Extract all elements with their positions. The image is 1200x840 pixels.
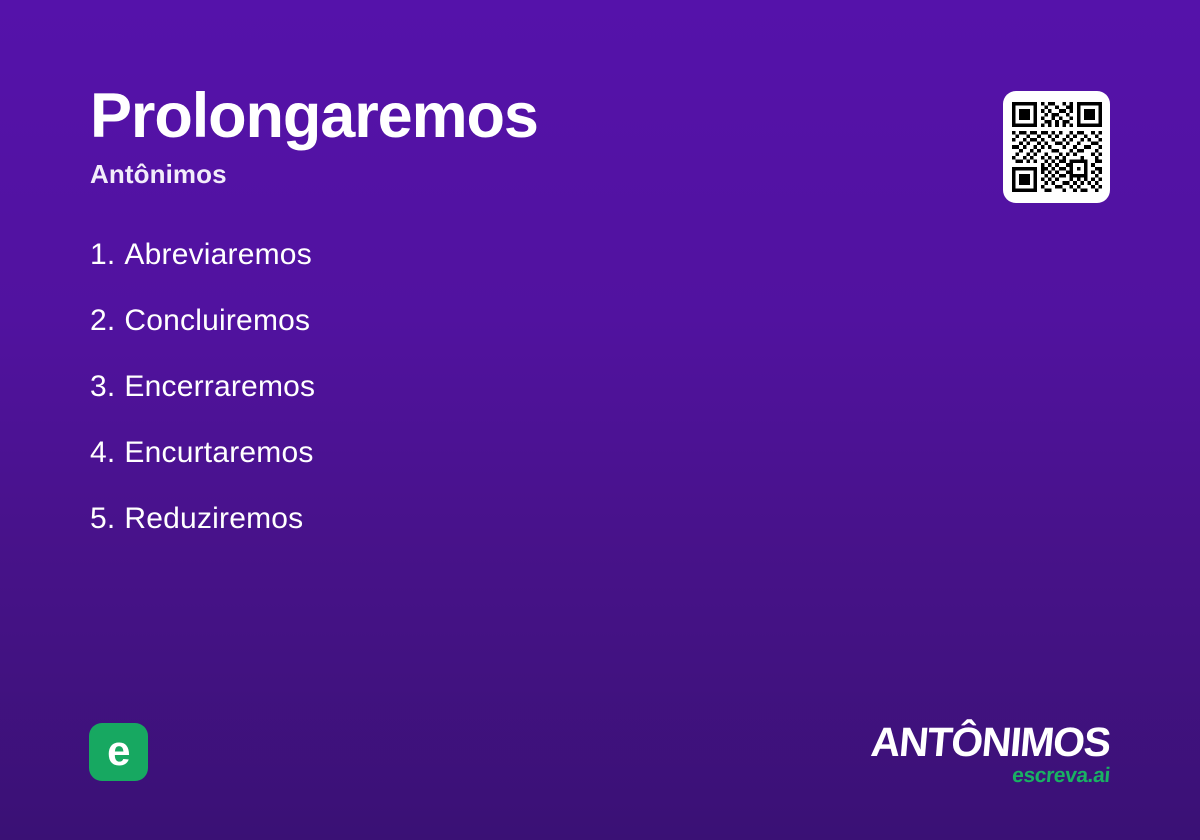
antonyms-card: Prolongaremos Antônimos 1.Abreviaremos 2… xyxy=(0,0,1200,840)
antonyms-list: 1.Abreviaremos 2.Concluiremos 3.Encerrar… xyxy=(90,238,790,568)
list-item-word: Encerraremos xyxy=(124,370,315,403)
list-item-index: 2. xyxy=(90,304,115,337)
list-item-word: Encurtaremos xyxy=(124,436,313,469)
list-item-word: Concluiremos xyxy=(124,304,310,337)
list-item-index: 3. xyxy=(90,370,115,403)
list-item: 3.Encerraremos xyxy=(90,370,790,436)
list-item-word: Reduziremos xyxy=(124,502,303,535)
e-badge-letter: e xyxy=(107,730,130,772)
headline-block: Prolongaremos Antônimos xyxy=(90,84,970,190)
page-subtitle: Antônimos xyxy=(90,159,970,190)
qr-code-panel[interactable] xyxy=(1003,91,1110,203)
list-item: 2.Concluiremos xyxy=(90,304,790,370)
list-item-word: Abreviaremos xyxy=(124,238,311,271)
qr-code-icon xyxy=(1012,102,1102,192)
escreva-e-logo-icon[interactable]: e xyxy=(89,723,148,781)
list-item: 1.Abreviaremos xyxy=(90,238,790,304)
page-title: Prolongaremos xyxy=(90,84,970,148)
list-item-index: 1. xyxy=(90,238,115,271)
list-item-index: 5. xyxy=(90,502,115,535)
list-item-index: 4. xyxy=(90,436,115,469)
list-item: 5.Reduziremos xyxy=(90,502,790,568)
list-item: 4.Encurtaremos xyxy=(90,436,790,502)
brand-lockup[interactable]: ANTÔNIMOS escreva.ai xyxy=(871,722,1110,786)
brand-name: ANTÔNIMOS xyxy=(869,722,1111,763)
brand-tagline: escreva.ai xyxy=(870,765,1111,786)
